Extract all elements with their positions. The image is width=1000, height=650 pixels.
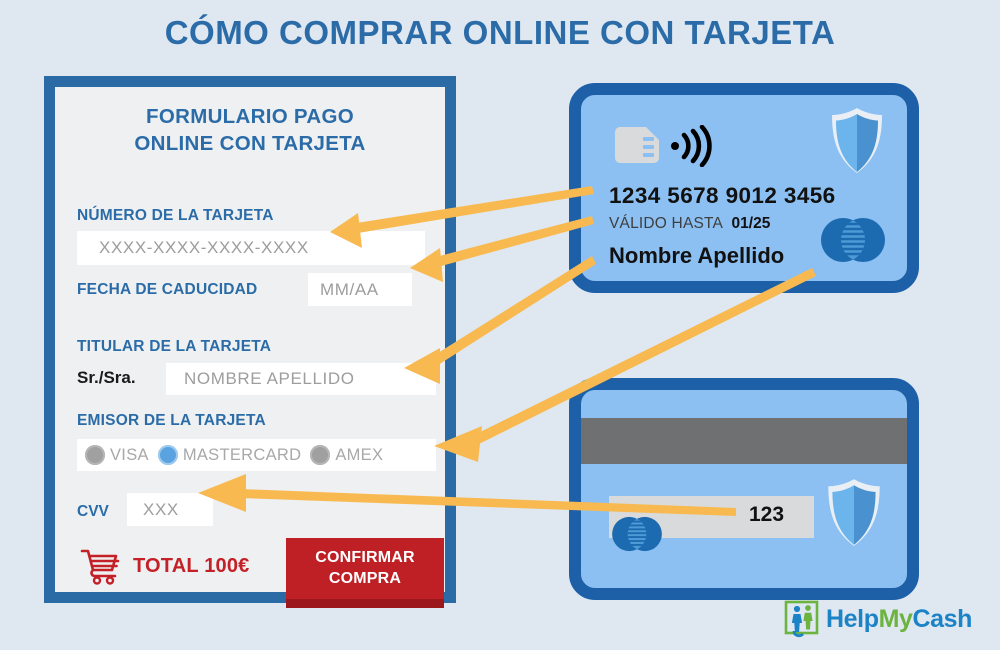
- logo-part-help: Help: [826, 605, 879, 633]
- total-row: TOTAL 100€: [80, 546, 250, 586]
- valid-until-row: VÁLIDO HASTA 01/25: [609, 215, 770, 233]
- radio-mastercard[interactable]: [158, 445, 178, 465]
- confirm-line1: CONFIRMAR: [315, 548, 415, 568]
- radio-visa[interactable]: [85, 445, 105, 465]
- radio-amex[interactable]: [310, 445, 330, 465]
- shopping-cart-icon: [80, 546, 124, 586]
- valid-until-value: 01/25: [732, 215, 771, 232]
- radio-label-amex: AMEX: [335, 446, 383, 465]
- logo-people-icon: [783, 600, 821, 638]
- holder-prefix: Sr./Sra.: [77, 368, 136, 388]
- holder-name-input[interactable]: NOMBRE APELLIDO: [166, 363, 436, 395]
- form-heading-line1: FORMULARIO PAGO: [55, 103, 445, 130]
- card-number-label: NÚMERO DE LA TARJETA: [77, 207, 274, 225]
- magnetic-stripe: [579, 418, 919, 464]
- issuer-radio-group: VISA MASTERCARD AMEX: [77, 439, 436, 471]
- helpmycash-logo: HelpMyCash: [783, 600, 972, 638]
- card-number-input[interactable]: XXXX-XXXX-XXXX-XXXX: [77, 231, 425, 265]
- valid-until-label: VÁLIDO HASTA: [609, 215, 723, 232]
- chip-icon: [615, 127, 659, 163]
- payment-form-panel: FORMULARIO PAGO ONLINE CON TARJETA NÚMER…: [44, 76, 456, 603]
- card-number-placeholder: XXXX-XXXX-XXXX-XXXX: [77, 238, 309, 258]
- form-heading: FORMULARIO PAGO ONLINE CON TARJETA: [55, 103, 445, 158]
- cvv-value-text: 123: [749, 503, 784, 527]
- contactless-icon: [669, 125, 715, 167]
- radio-label-visa: VISA: [110, 446, 149, 465]
- holder-label: TITULAR DE LA TARJETA: [77, 338, 271, 356]
- cvv-input[interactable]: XXX: [127, 493, 213, 526]
- cvv-placeholder: XXX: [127, 500, 179, 520]
- logo-part-cash: Cash: [913, 605, 973, 633]
- expiry-input[interactable]: MM/AA: [308, 273, 412, 306]
- card-number-text: 1234 5678 9012 3456: [609, 183, 836, 209]
- security-shield-icon-back: [823, 476, 885, 550]
- radio-label-mastercard: MASTERCARD: [183, 446, 302, 465]
- total-amount: TOTAL 100€: [133, 555, 250, 578]
- form-heading-line2: ONLINE CON TARJETA: [55, 130, 445, 157]
- cvv-label: CVV: [77, 503, 109, 521]
- mastercard-logo-icon-back: [609, 516, 665, 552]
- card-holder-text: Nombre Apellido: [609, 243, 784, 269]
- confirm-purchase-button[interactable]: CONFIRMAR COMPRA: [286, 538, 444, 608]
- infographic-stage: CÓMO COMPRAR ONLINE CON TARJETA FORMULAR…: [0, 0, 1000, 650]
- mastercard-logo-icon: [817, 217, 889, 263]
- holder-placeholder: NOMBRE APELLIDO: [166, 369, 355, 389]
- expiry-placeholder: MM/AA: [308, 280, 379, 300]
- issuer-label: EMISOR DE LA TARJETA: [77, 412, 266, 430]
- expiry-label: FECHA DE CADUCIDAD: [77, 281, 257, 299]
- credit-card-front: 1234 5678 9012 3456 VÁLIDO HASTA 01/25 N…: [569, 83, 919, 293]
- credit-card-back: 123: [569, 378, 919, 600]
- logo-part-my: My: [879, 605, 913, 633]
- confirm-line2: COMPRA: [315, 569, 415, 589]
- page-title: CÓMO COMPRAR ONLINE CON TARJETA: [0, 14, 1000, 52]
- security-shield-icon: [827, 105, 887, 177]
- logo-wordmark: HelpMyCash: [826, 605, 972, 634]
